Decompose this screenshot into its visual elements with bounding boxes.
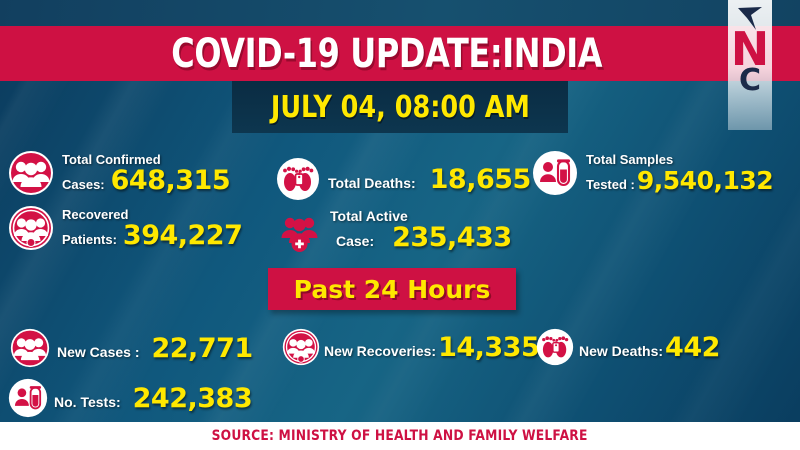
feet-toe-tag-icon	[276, 157, 320, 201]
stat-label: No. Tests:	[54, 395, 121, 410]
past-24-hours-label: Past 24 Hours	[294, 275, 491, 304]
stat-total-deaths: Total Deaths: 18,655	[276, 157, 531, 201]
stat-value: 9,540,132	[637, 167, 773, 194]
stat-recovered-patients: Recovered Patients: 394,227	[8, 205, 242, 251]
people-recovered-ring-icon	[282, 328, 320, 366]
stat-new-deaths: New Deaths: 442	[536, 328, 720, 366]
stat-value: 18,655	[430, 166, 531, 193]
stat-total-samples-tested: Total Samples Tested : 9,540,132	[532, 150, 773, 196]
page-title: COVID-19 UPDATE:INDIA	[171, 31, 629, 77]
stat-label-line2: Case:	[336, 234, 374, 249]
stat-value: 235,433	[392, 224, 511, 251]
stat-value: 242,383	[133, 385, 252, 412]
stat-value: 394,227	[123, 222, 242, 249]
stat-value: 648,315	[111, 167, 230, 194]
date-text: JULY 04, 08:00 AM	[270, 90, 529, 125]
stat-label-line2: Cases:	[62, 177, 105, 192]
stat-label-line1: Total Samples	[586, 152, 773, 167]
past-24-hours-banner: Past 24 Hours	[268, 268, 516, 310]
stat-label-line2: Tested :	[586, 177, 635, 192]
people-recovered-ring-icon	[8, 205, 54, 251]
stat-label: Total Deaths:	[328, 176, 416, 191]
date-banner: JULY 04, 08:00 AM	[232, 81, 568, 133]
people-medical-cross-icon	[276, 207, 322, 253]
person-test-tube-icon	[8, 378, 48, 418]
stat-total-confirmed-cases: Total Confirmed Cases: 648,315	[8, 150, 230, 196]
people-group-icon	[8, 150, 54, 196]
stat-value: 442	[665, 334, 720, 361]
stat-label: New Cases :	[57, 345, 139, 360]
source-footer: SOURCE: MINISTRY OF HEALTH AND FAMILY WE…	[0, 422, 800, 450]
stat-label: New Deaths:	[579, 344, 663, 359]
top-navy-strip	[0, 0, 800, 26]
stat-value: 14,335	[438, 334, 539, 361]
logo-letter-c: C	[728, 66, 772, 96]
people-group-icon	[10, 328, 50, 368]
stat-new-recoveries: New Recoveries: 14,335	[282, 328, 539, 366]
stat-new-cases: New Cases : 22,771	[10, 328, 253, 368]
feet-toe-tag-icon	[536, 328, 574, 366]
stat-value: 22,771	[151, 335, 252, 362]
channel-logo: N C	[728, 0, 772, 130]
person-test-tube-icon	[532, 150, 578, 196]
covid-update-infographic: COVID-19 UPDATE:INDIA JULY 04, 08:00 AM …	[0, 0, 800, 450]
stat-label: New Recoveries:	[324, 344, 436, 359]
source-text: SOURCE: MINISTRY OF HEALTH AND FAMILY WE…	[212, 428, 588, 444]
stat-no-tests: No. Tests: 242,383	[8, 378, 252, 418]
stat-total-active-cases: Total Active Case: 235,433	[276, 207, 512, 253]
title-bar: COVID-19 UPDATE:INDIA	[0, 26, 800, 81]
stat-label-line2: Patients:	[62, 232, 117, 247]
